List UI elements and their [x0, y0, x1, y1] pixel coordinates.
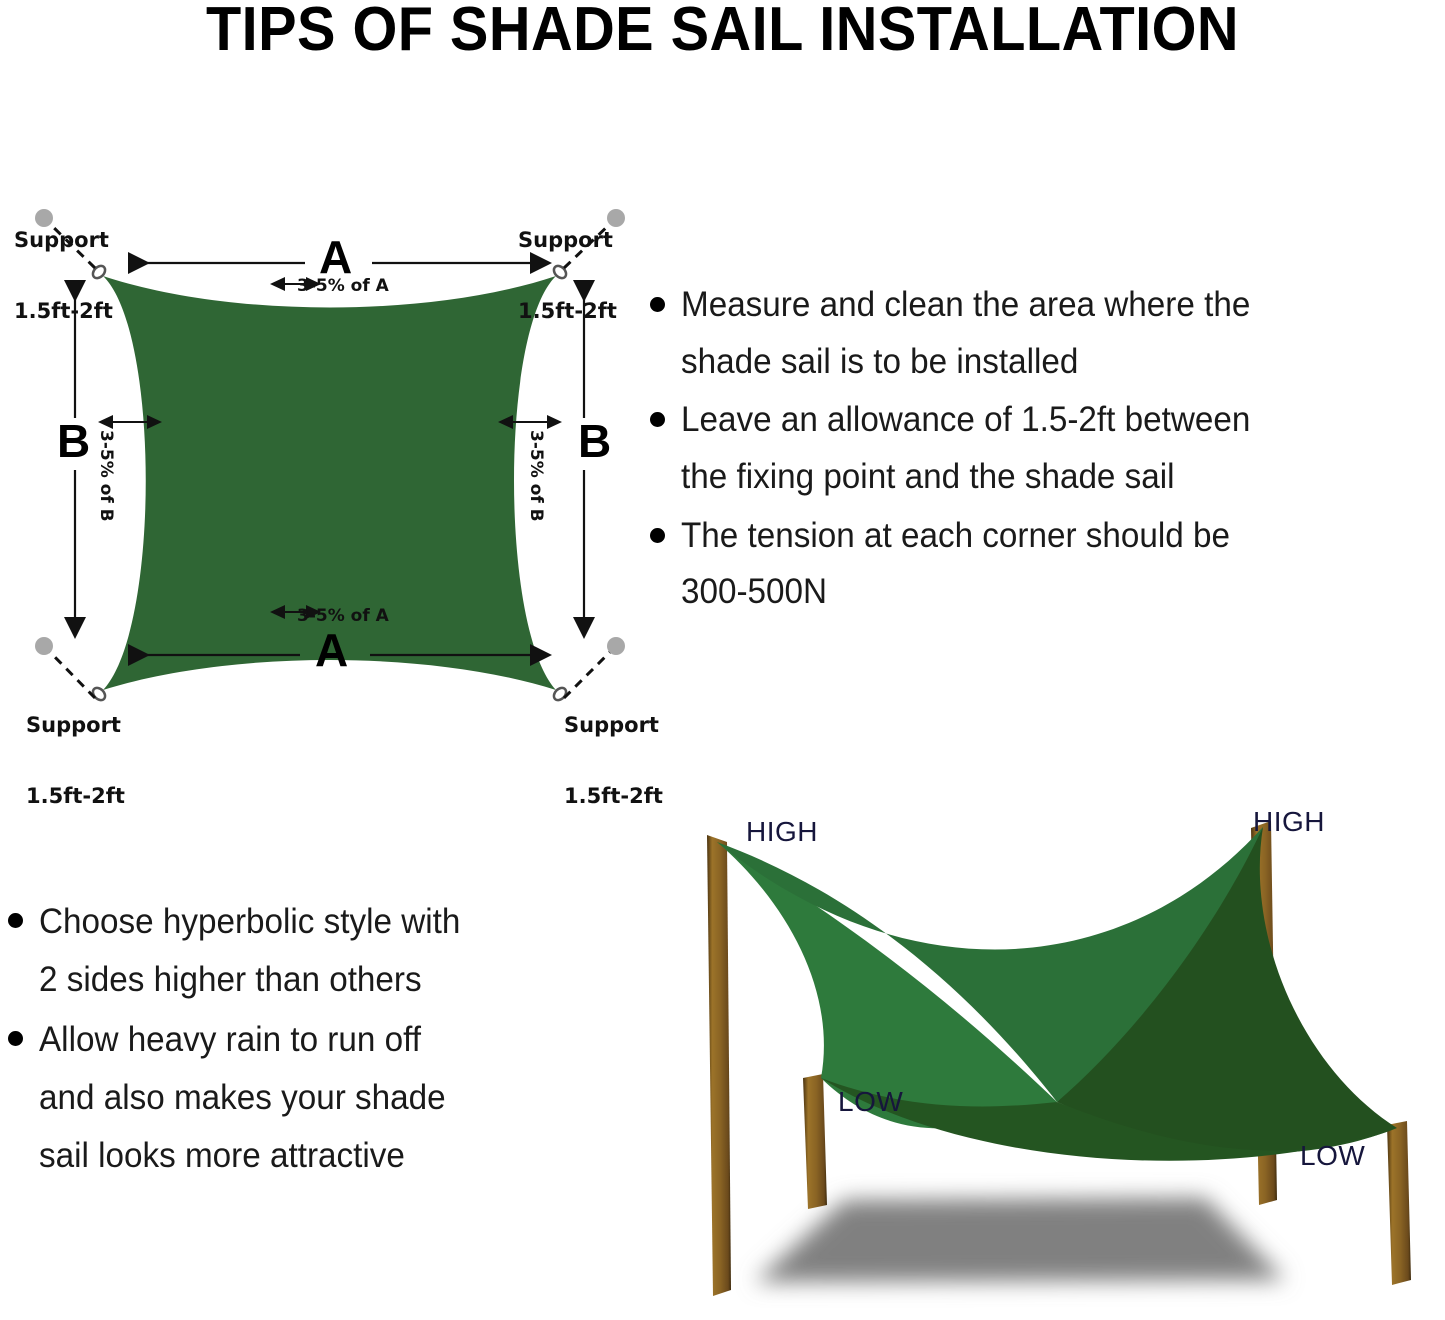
support-label-top-right: Support 1.5ft-2ft [518, 182, 617, 370]
bullet-dot-icon [650, 297, 665, 312]
list-item: Allow heavy rain to run off and also mak… [8, 1011, 628, 1185]
list-item-line: Allow heavy rain to run off [39, 1011, 446, 1069]
curvature-label-left: 3-5% of B [96, 430, 115, 522]
list-item-text: Choose hyperbolic style with 2 sides hig… [39, 893, 460, 1009]
support-label-line1: Support [14, 229, 113, 253]
list-item-line: sail looks more attractive [39, 1127, 446, 1185]
list-item-line: 2 sides higher than others [39, 951, 460, 1009]
curvature-label-bottom: 3-5% of A [297, 607, 389, 626]
list-item-line: the fixing point and the shade sail [681, 449, 1250, 506]
list-item-line: shade sail is to be installed [681, 334, 1250, 391]
list-item-text: The tension at each corner should be 300… [681, 508, 1230, 621]
post-high-left [707, 835, 731, 1296]
label-low-right: LOW [1300, 1140, 1365, 1172]
hyperbolic-sail-svg [645, 780, 1445, 1320]
support-label-line1: Support [564, 714, 663, 738]
dimension-letter-a-top: A [319, 234, 352, 280]
support-label-top-left: Support 1.5ft-2ft [14, 182, 113, 370]
list-item: The tension at each corner should be 300… [650, 508, 1445, 621]
list-item-line: Measure and clean the area where the [681, 277, 1250, 334]
support-label-line1: Support [518, 229, 617, 253]
list-item-line: The tension at each corner should be [681, 508, 1230, 565]
list-item-text: Allow heavy rain to run off and also mak… [39, 1011, 446, 1185]
support-label-line2: 1.5ft-2ft [26, 785, 125, 809]
bullet-dot-icon [8, 1031, 23, 1046]
ground-shadow [755, 1198, 1285, 1282]
support-label-line1: Support [26, 714, 125, 738]
list-item-line: Leave an allowance of 1.5-2ft between [681, 392, 1250, 449]
installation-tips-list: Measure and clean the area where the sha… [650, 277, 1445, 623]
support-label-line2: 1.5ft-2ft [518, 300, 617, 324]
list-item-line: Choose hyperbolic style with [39, 893, 460, 951]
dimension-letter-b-right: B [578, 418, 611, 464]
list-item: Measure and clean the area where the sha… [650, 277, 1445, 390]
hyperbolic-style-tips-list: Choose hyperbolic style with 2 sides hig… [8, 893, 628, 1187]
bullet-dot-icon [8, 913, 23, 928]
support-label-bottom-left: Support 1.5ft-2ft [26, 667, 125, 855]
list-item-text: Measure and clean the area where the sha… [681, 277, 1250, 390]
curvature-label-top: 3-5% of A [297, 277, 389, 296]
label-high-left: HIGH [746, 816, 818, 848]
list-item-line: and also makes your shade [39, 1069, 446, 1127]
list-item: Choose hyperbolic style with 2 sides hig… [8, 893, 628, 1009]
post-low-left [803, 1074, 827, 1209]
infographic-root: TIPS OF SHADE SAIL INSTALLATION [0, 0, 1445, 1319]
support-label-line2: 1.5ft-2ft [14, 300, 113, 324]
label-high-right: HIGH [1253, 806, 1325, 838]
post-low-right [1387, 1121, 1411, 1285]
page-title: TIPS OF SHADE SAIL INSTALLATION [51, 0, 1395, 65]
bullet-dot-icon [650, 528, 665, 543]
list-item: Leave an allowance of 1.5-2ft between th… [650, 392, 1445, 505]
dimension-letter-a-bottom: A [315, 627, 348, 673]
curvature-label-right: 3-5% of B [526, 430, 545, 522]
label-low-left: LOW [838, 1086, 903, 1118]
list-item-text: Leave an allowance of 1.5-2ft between th… [681, 392, 1250, 505]
list-item-line: 300-500N [681, 564, 1230, 621]
bullet-dot-icon [650, 412, 665, 427]
dimension-letter-b-left: B [57, 418, 90, 464]
